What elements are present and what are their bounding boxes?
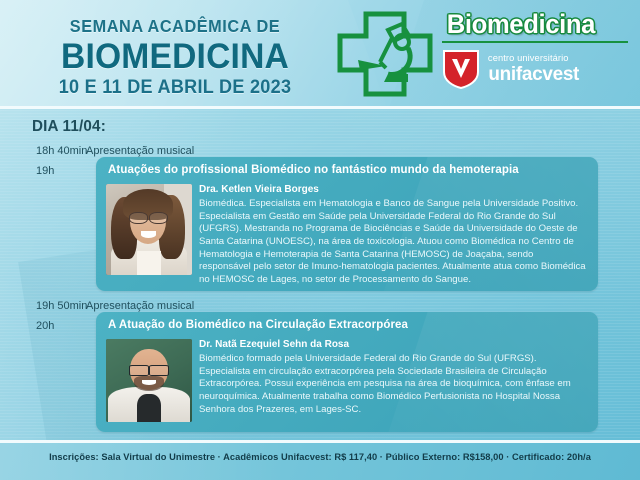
speaker-bio-1: Biomédica. Especialista em Hematologia e… <box>199 198 587 287</box>
brand-wordmark: Biomedicina <box>447 10 626 38</box>
speaker-photo-nata-ezequiel-sehn-da-rosa <box>106 339 192 422</box>
brand-stack: Biomedicina centro universitário unifacv… <box>442 10 630 90</box>
speaker-name-2: Dr. Natã Ezequiel Sehn da Rosa <box>199 339 349 350</box>
talk-card-1[interactable]: Atuações do profissional Biomédico no fa… <box>96 157 598 291</box>
university-row: centro universitário unifacvest <box>442 48 630 90</box>
logo-group: Biomedicina centro universitário unifacv… <box>330 6 630 102</box>
talk-title-2: A Atuação do Biomédico na Circulação Ext… <box>108 319 588 331</box>
event-title-line1: SEMANA ACADÊMICA DE <box>40 16 310 37</box>
event-title-line3: 10 E 11 DE ABRIL DE 2023 <box>37 77 313 99</box>
brand-divider-rule <box>442 41 628 43</box>
speaker-photo-ketlen-vieira-borges <box>106 184 192 275</box>
speaker-bio-2: Biomédico formado pela Universidade Fede… <box>199 353 587 416</box>
university-text: centro universitário unifacvest <box>487 54 580 84</box>
day-title: DIA 11/04: <box>32 118 106 136</box>
poster-header: SEMANA ACADÊMICA DE BIOMEDICINA 10 E 11 … <box>0 0 640 108</box>
medical-cross-microscope-logo <box>330 8 440 100</box>
talk-title-1: Atuações do profissional Biomédico no fa… <box>108 164 588 176</box>
poster-footer: Inscrições: Sala Virtual do Unimestre · … <box>0 443 640 480</box>
unifacvest-shield-logo <box>442 48 480 90</box>
talk-card-2[interactable]: A Atuação do Biomédico na Circulação Ext… <box>96 312 598 432</box>
slot-note-3: Apresentação musical <box>86 300 194 312</box>
event-title-block: SEMANA ACADÊMICA DE BIOMEDICINA 10 E 11 … <box>30 16 320 99</box>
slot-time-2: 19h <box>36 165 54 177</box>
event-poster: SEMANA ACADÊMICA DE BIOMEDICINA 10 E 11 … <box>0 0 640 480</box>
slot-time-4: 20h <box>36 320 54 332</box>
slot-note-1: Apresentação musical <box>86 145 194 157</box>
schedule-section: DIA 11/04: 18h 40min Apresentação musica… <box>0 109 640 440</box>
speaker-name-1: Dra. Ketlen Vieira Borges <box>199 184 319 195</box>
registration-info: Inscrições: Sala Virtual do Unimestre · … <box>0 452 640 462</box>
slot-time-3: 19h 50min <box>36 300 87 312</box>
event-title-line2: BIOMEDICINA <box>36 39 314 74</box>
slot-time-1: 18h 40min <box>36 145 87 157</box>
university-name: unifacvest <box>488 65 579 85</box>
